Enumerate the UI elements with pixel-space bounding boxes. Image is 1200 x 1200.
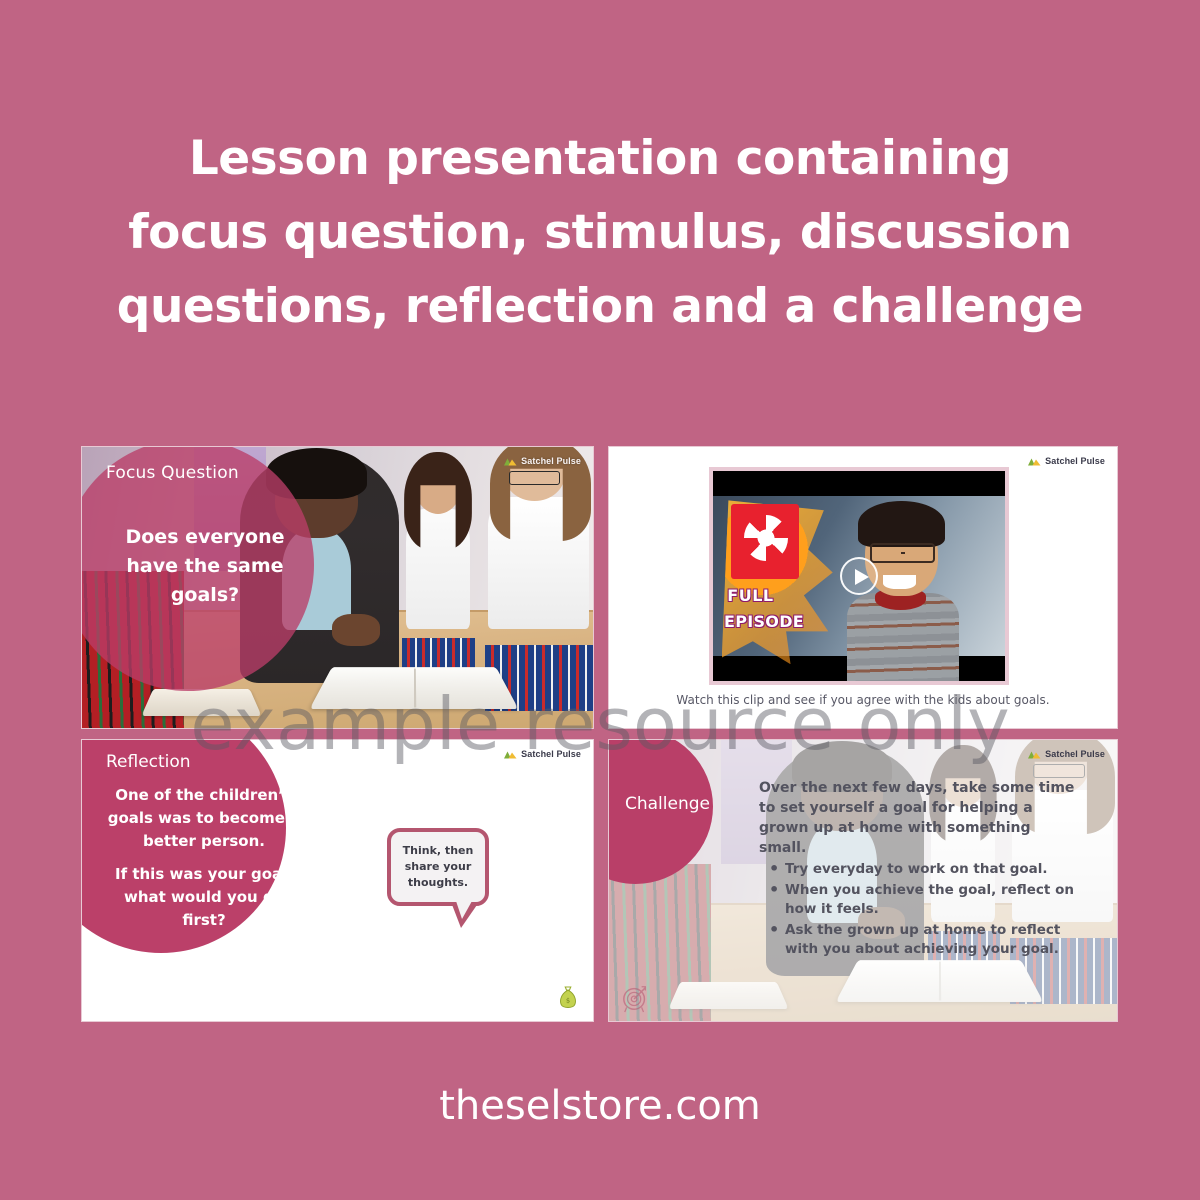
page-title-line-1: Lesson presentation containing [0, 122, 1200, 196]
page-title-line-3: questions, reflection and a challenge [0, 270, 1200, 344]
video-child-hair [858, 501, 944, 547]
slide-challenge[interactable]: Challenge Over the next few days, take s… [608, 739, 1118, 1022]
satchel-pulse-logo: Satchel Pulse [1027, 749, 1105, 759]
badge-line-2: EPISODE [724, 612, 831, 638]
list-item: When you achieve the goal, reflect on ho… [767, 881, 1087, 919]
video-child-glasses [870, 543, 935, 562]
satchel-pulse-logo-text: Satchel Pulse [521, 456, 581, 466]
satchel-pulse-logo: Satchel Pulse [1027, 456, 1105, 466]
satchel-pulse-logo-text: Satchel Pulse [521, 749, 581, 759]
page-title-line-2: focus question, stimulus, discussion [0, 196, 1200, 270]
mountain-logo-icon [503, 749, 517, 759]
photo-student-one [394, 458, 481, 672]
badge-line-1: FULL [727, 586, 820, 612]
slide-reflection[interactable]: Reflection One of the children’s goals w… [81, 739, 594, 1022]
video-full-episode-badge: FULL EPISODE [722, 500, 833, 664]
satchel-pulse-logo: Satchel Pulse [503, 749, 581, 759]
video-child-smile [883, 575, 916, 589]
satchel-pulse-logo-text: Satchel Pulse [1045, 456, 1105, 466]
challenge-intro: Over the next few days, take some time t… [759, 778, 1079, 858]
photo-student-two-glasses [509, 471, 561, 485]
focus-question-label: Focus Question [106, 463, 239, 483]
bubble-tail [451, 902, 479, 928]
reflection-paragraph-1: One of the children’s goals was to becom… [100, 784, 308, 853]
mountain-logo-icon [1027, 749, 1041, 759]
cbc-logo-icon [744, 515, 788, 561]
slide-focus-question[interactable]: Focus Question Does everyone have the sa… [81, 446, 594, 729]
video-player[interactable]: FULL EPISODE [709, 467, 1009, 685]
photo-book-open [310, 667, 519, 709]
money-bag-icon: $ [557, 985, 579, 1011]
think-share-bubble-text: Think, then share your thoughts. [391, 832, 485, 902]
satchel-pulse-logo: Satchel Pulse [503, 456, 581, 466]
challenge-label: Challenge [625, 794, 710, 814]
video-thumbnail: FULL EPISODE [713, 471, 1005, 681]
reflection-paragraph-2: If this was your goal, what would you do… [100, 863, 308, 932]
stimulus-caption: Watch this clip and see if you agree wit… [609, 693, 1117, 707]
mountain-logo-icon [1027, 456, 1041, 466]
reflection-body: One of the children’s goals was to becom… [100, 784, 308, 932]
photo-teacher-hand [332, 614, 380, 646]
think-share-bubble: Think, then share your thoughts. [387, 828, 489, 906]
target-icon [621, 983, 651, 1013]
mountain-logo-icon [503, 456, 517, 466]
list-item: Ask the grown up at home to reflect with… [767, 921, 1087, 959]
focus-question-text: Does everyone have the same goals? [112, 523, 298, 610]
slide-preview-grid: Focus Question Does everyone have the sa… [81, 446, 1118, 1022]
footer-site-url: theselstore.com [0, 1083, 1200, 1129]
challenge-bullet-list: Try everyday to work on that goal. When … [767, 860, 1087, 961]
page-title: Lesson presentation containing focus que… [0, 122, 1200, 344]
list-item: Try everyday to work on that goal. [767, 860, 1087, 879]
photo-book-secondary [142, 689, 263, 716]
reflection-label: Reflection [106, 752, 191, 772]
photo-student-two [481, 447, 593, 683]
svg-text:$: $ [566, 997, 570, 1005]
play-icon[interactable] [840, 557, 878, 595]
slide-stimulus[interactable]: FULL EPISODE Watch this clip and see if … [608, 446, 1118, 729]
satchel-pulse-logo-text: Satchel Pulse [1045, 749, 1105, 759]
